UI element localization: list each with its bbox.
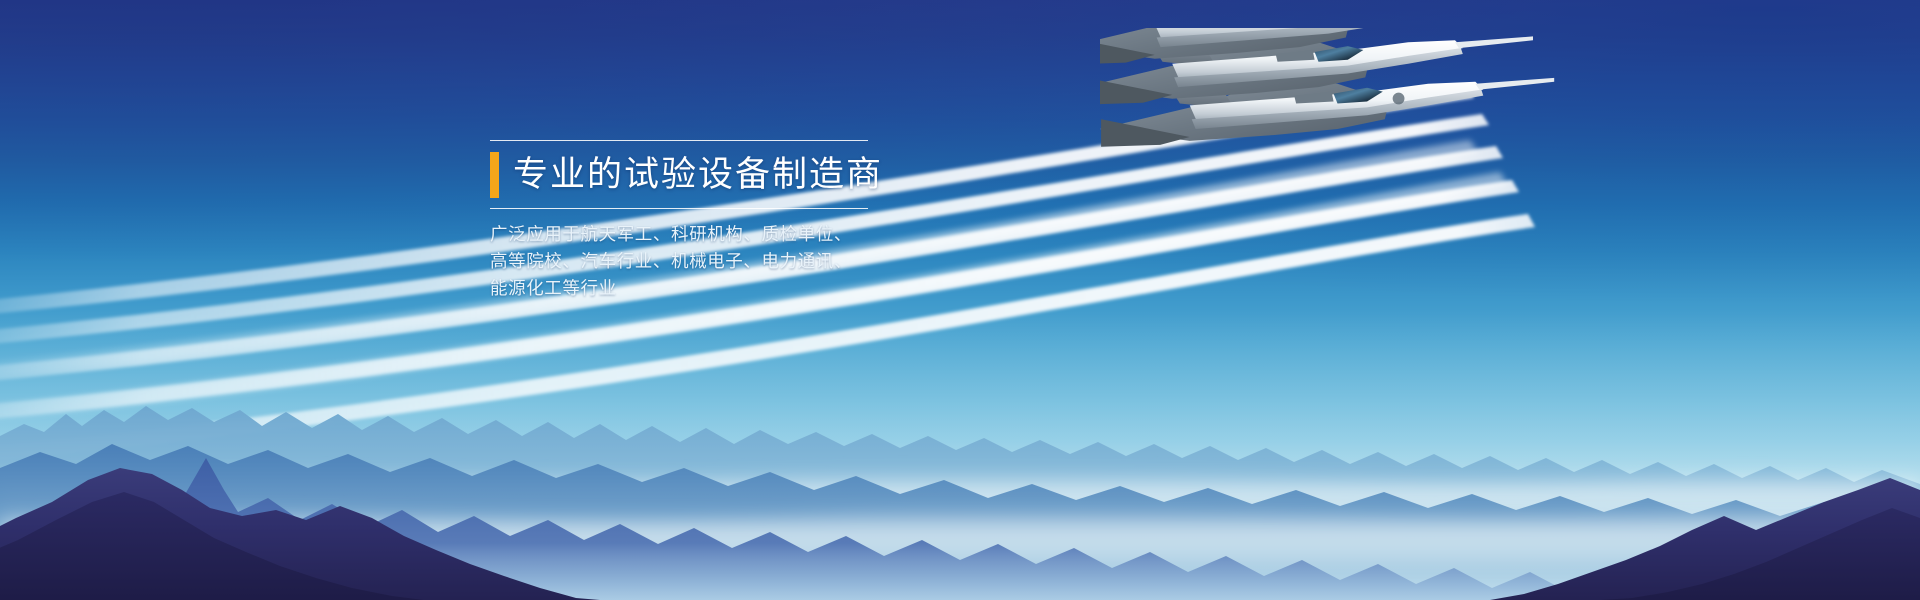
fighter-jet-formation-image — [1100, 28, 1920, 328]
headline-row: 专业的试验设备制造商 — [490, 152, 910, 198]
hero-banner: 专业的试验设备制造商 广泛应用于航天军工、科研机构、质检单位、 高等院校、汽车行… — [0, 0, 1920, 600]
mountain-range-silhouettes — [0, 340, 1920, 600]
orange-accent-bar-icon — [490, 152, 499, 198]
banner-copy-block: 专业的试验设备制造商 广泛应用于航天军工、科研机构、质检单位、 高等院校、汽车行… — [490, 140, 910, 302]
headline-rule-bottom — [490, 208, 868, 209]
subtitle-line-1: 广泛应用于航天军工、科研机构、质检单位、 — [490, 221, 910, 248]
banner-subtitle: 广泛应用于航天军工、科研机构、质检单位、 高等院校、汽车行业、机械电子、电力通讯… — [490, 221, 910, 302]
subtitle-line-2: 高等院校、汽车行业、机械电子、电力通讯、 — [490, 248, 910, 275]
subtitle-line-3: 能源化工等行业 — [490, 275, 910, 302]
headline-rule-top — [490, 140, 868, 141]
page-title: 专业的试验设备制造商 — [513, 153, 883, 197]
